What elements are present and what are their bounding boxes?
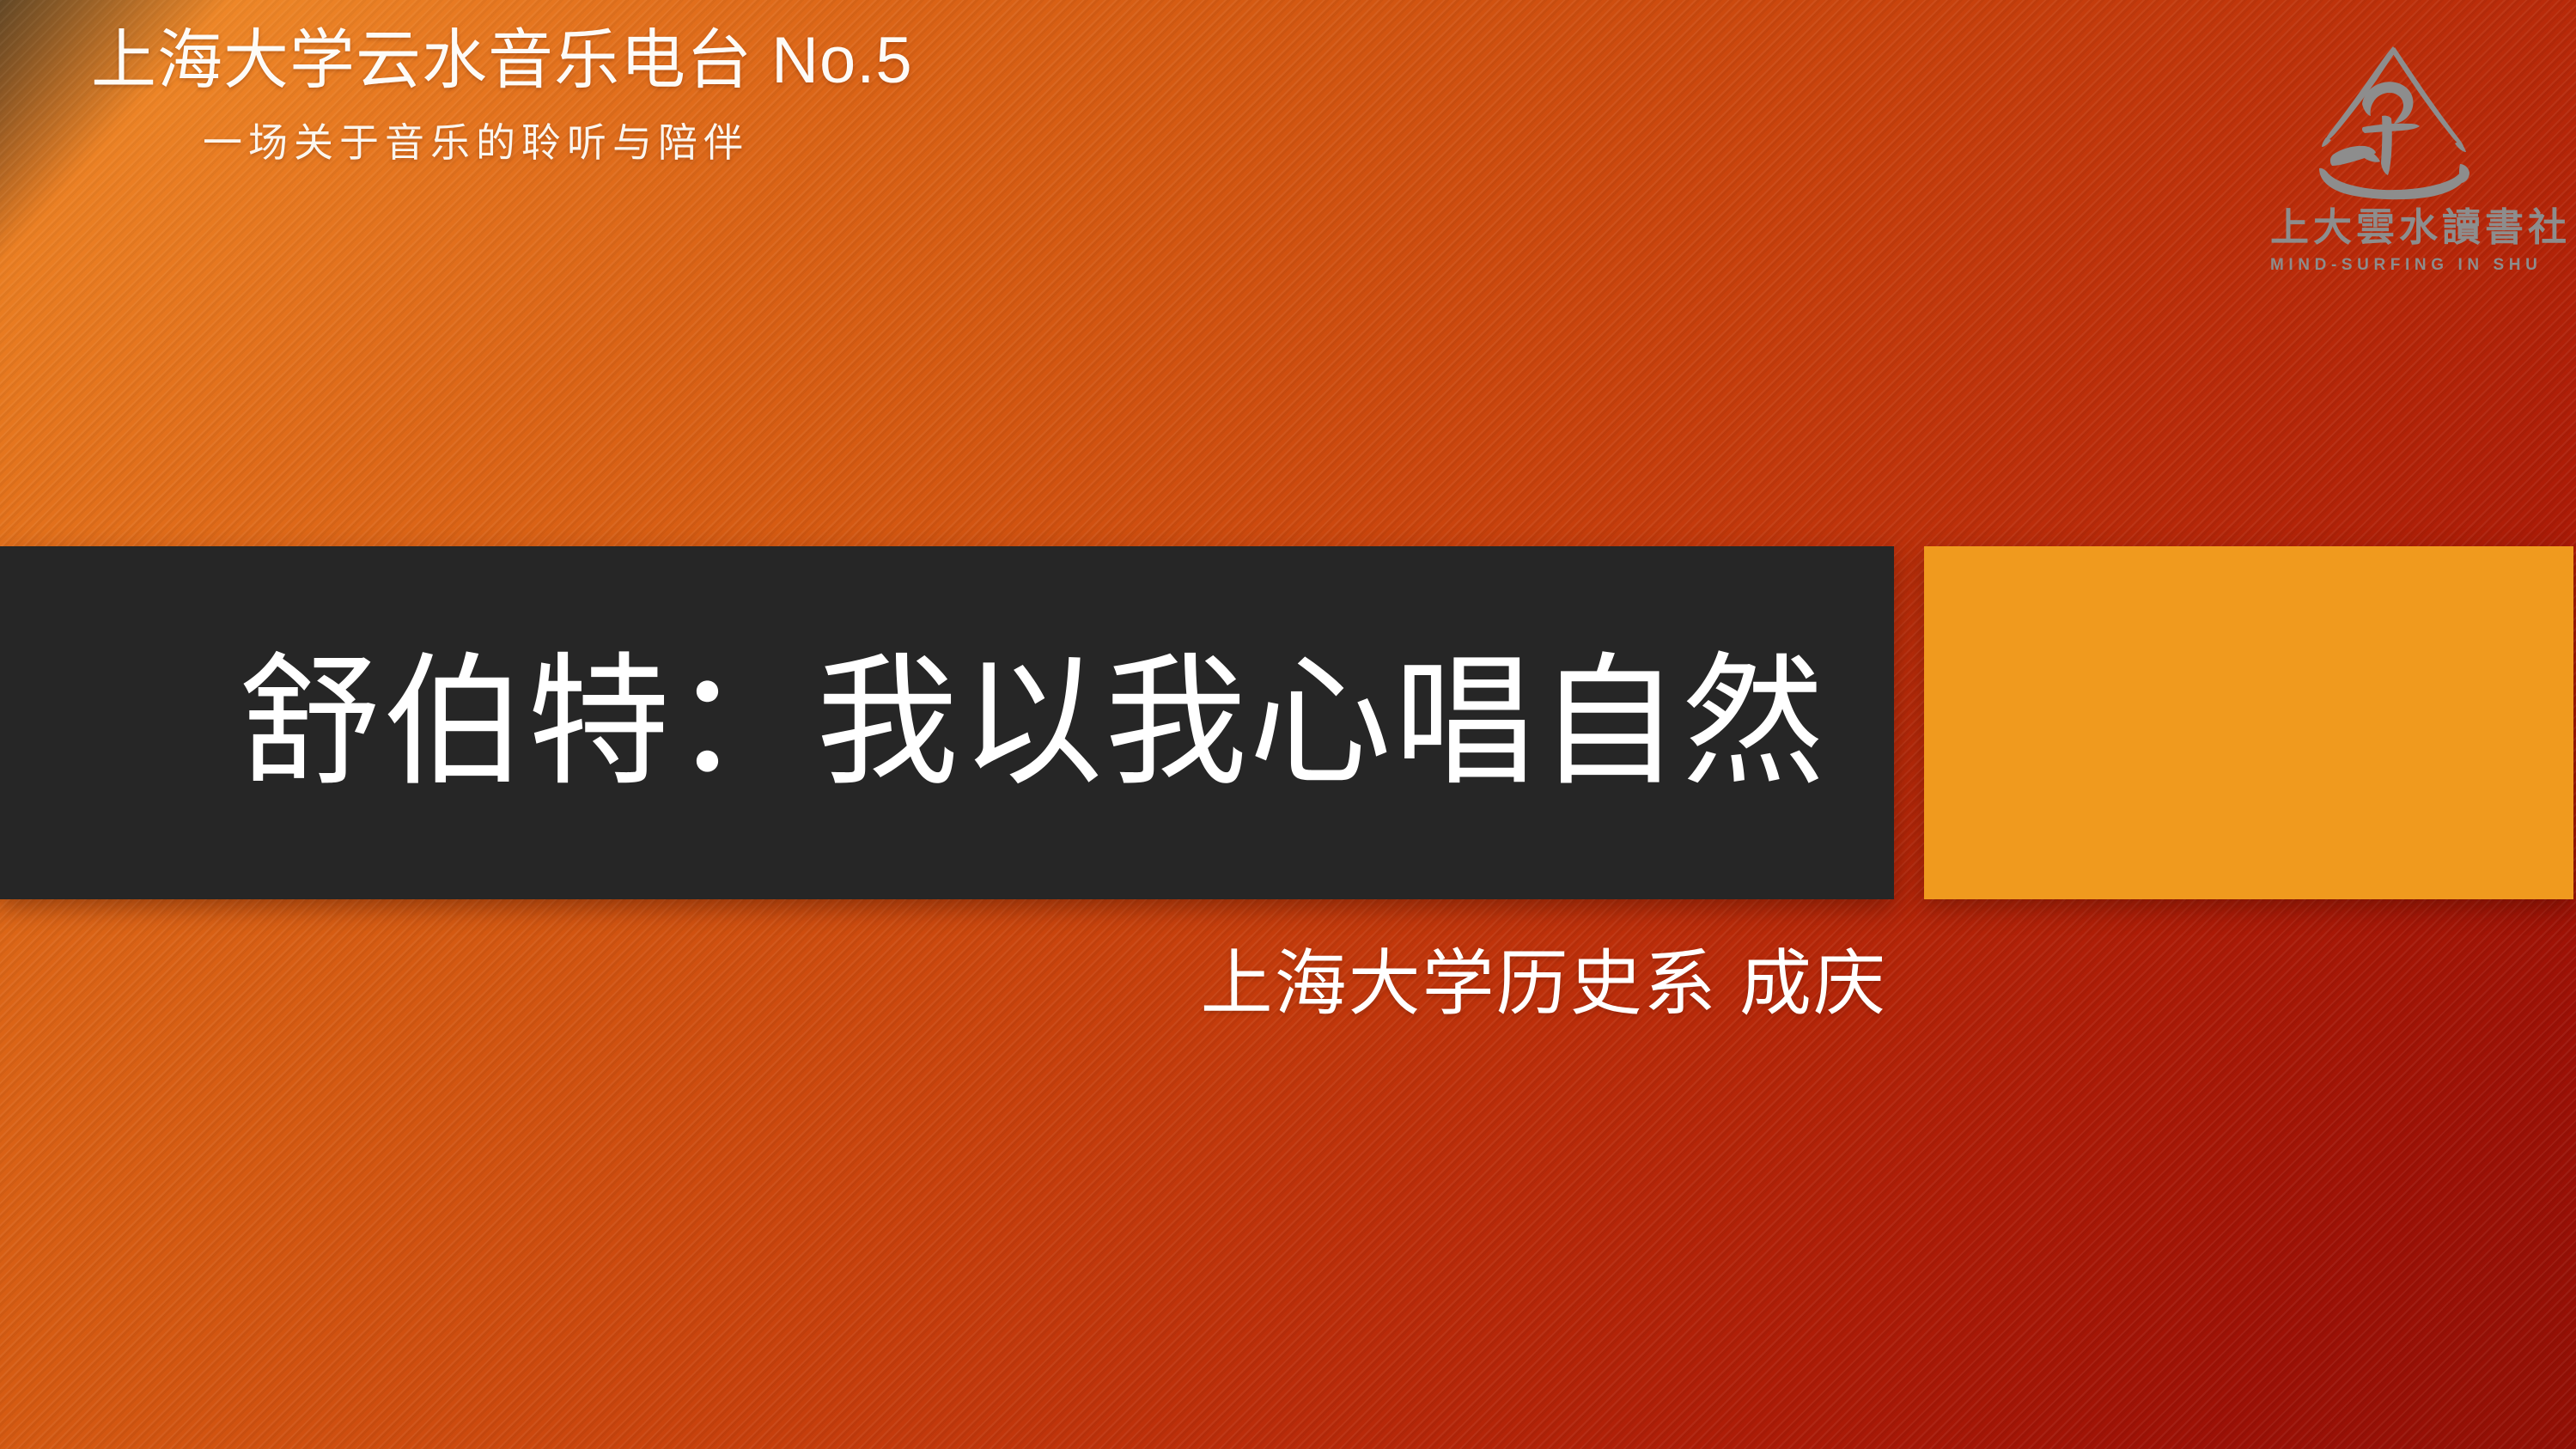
slide-main-title: 舒伯特：我以我心唱自然 <box>239 652 1826 795</box>
mountain-brush-emblem-icon <box>2300 31 2498 207</box>
station-tagline: 一场关于音乐的聆听与陪伴 <box>203 112 913 168</box>
station-title: 上海大学云水音乐电台 No.5 <box>91 26 913 96</box>
presenter-line: 上海大学历史系 成庆 <box>0 926 1894 1030</box>
accent-block <box>1924 546 2573 899</box>
slide-header: 上海大学云水音乐电台 No.5 一场关于音乐的聆听与陪伴 <box>91 26 913 168</box>
presenter-name: 上海大学历史系 成庆 <box>1201 943 1887 1024</box>
presentation-slide: 上海大学云水音乐电台 No.5 一场关于音乐的聆听与陪伴 <box>0 0 2576 1449</box>
logo-chinese-name: 上大雲水讀書社 <box>2270 209 2528 247</box>
logo-english-name: MIND-SURFING IN SHU <box>2270 256 2528 275</box>
society-logo: 上大雲水讀書社 MIND-SURFING IN SHU <box>2270 31 2528 275</box>
title-bar: 舒伯特：我以我心唱自然 <box>0 546 1894 899</box>
